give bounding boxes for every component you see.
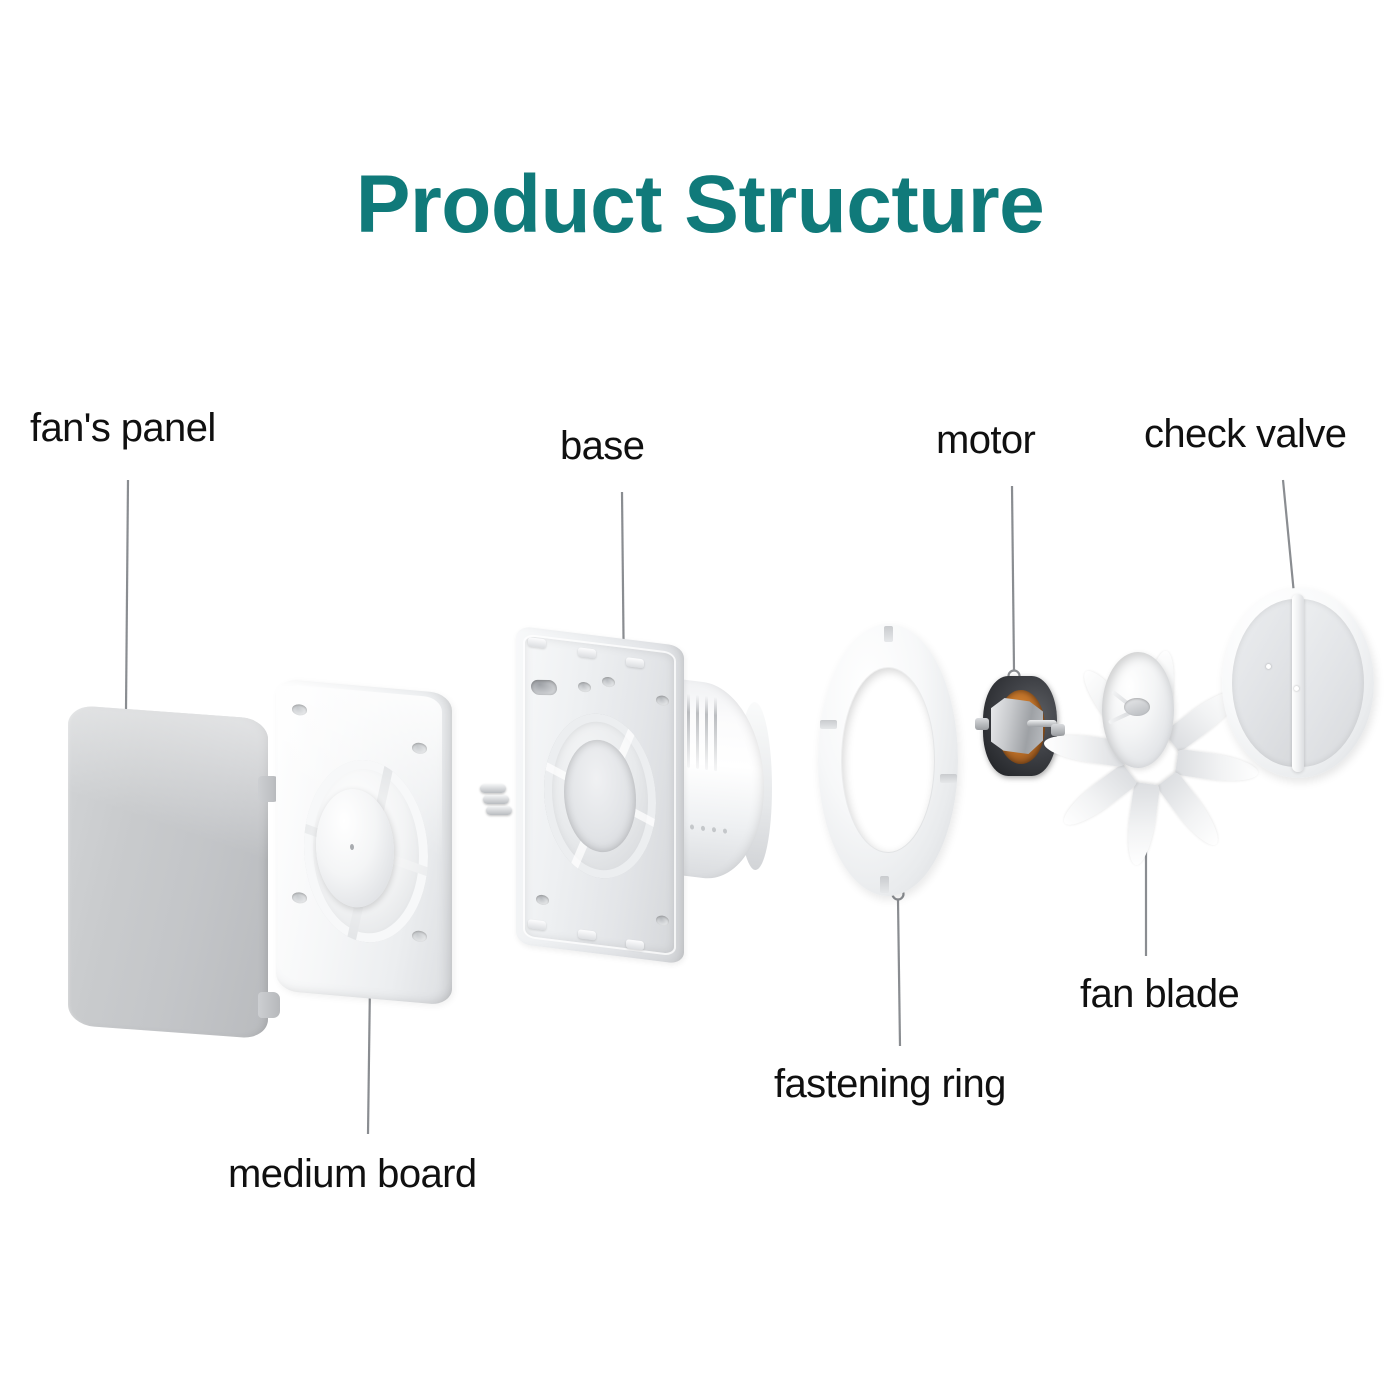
screw-hole-bottom-right: [412, 930, 427, 942]
screw-hole-top-right: [412, 742, 427, 754]
leader-fans-panel: [126, 480, 128, 710]
label-fans-panel: fan's panel: [30, 406, 216, 451]
ring-notch-bottom: [880, 876, 889, 893]
label-base: base: [560, 424, 644, 469]
vent-slot: [696, 695, 699, 769]
part-base: [492, 636, 792, 966]
screw-hole-top-left: [292, 704, 307, 716]
duct-dot: [701, 826, 705, 831]
label-fan-blade: fan blade: [1080, 972, 1239, 1017]
part-fans-panel: [60, 712, 290, 1042]
motor-mount-lug-right: [1051, 724, 1065, 736]
fastening-ring-outer: [818, 624, 958, 896]
page-title: Product Structure: [0, 158, 1400, 252]
leader-motor: [1012, 486, 1014, 670]
impeller-hub: [1124, 698, 1150, 716]
label-medium-board: medium board: [228, 1152, 476, 1197]
base-wire-connector: [480, 780, 520, 818]
vent-slot: [687, 694, 690, 768]
ring-notch-right: [940, 774, 957, 783]
connector-pin: [480, 784, 506, 793]
check-valve-center-bar: [1292, 594, 1304, 772]
part-medium-board: [276, 686, 466, 1012]
medium-board-plate: [276, 678, 452, 1005]
medium-board-hub-dot: [350, 844, 354, 850]
duct-dot: [712, 827, 716, 832]
check-valve-ring: [1222, 588, 1374, 778]
leader-check-valve: [1283, 480, 1294, 594]
base-hole: [656, 695, 669, 707]
base-clip: [626, 939, 644, 950]
fans-panel-cover: [68, 705, 268, 1040]
screw-hole-bottom-left: [292, 892, 307, 904]
duct-dot: [723, 828, 727, 833]
product-structure-diagram: Product Structure fan's panel medium boa…: [0, 0, 1400, 1400]
part-motor: [975, 672, 1067, 784]
base-clip: [528, 919, 546, 930]
base-bore: [544, 707, 656, 885]
part-fan-blade: [1076, 622, 1226, 812]
motor-housing: [983, 676, 1057, 776]
base-hole: [536, 894, 549, 906]
base-clip: [528, 637, 546, 648]
connector-pin: [486, 806, 512, 815]
label-fastening-ring: fastening ring: [774, 1062, 1006, 1107]
impeller-blade: [1057, 763, 1138, 833]
leader-fastening-ring: [898, 900, 900, 1046]
check-valve-flap-left: [1232, 599, 1295, 767]
base-hole: [578, 681, 591, 693]
base-keyhole: [530, 680, 557, 696]
vent-slot: [705, 696, 708, 770]
label-check-valve: check valve: [1144, 412, 1346, 457]
check-valve-pivot-dot: [1266, 664, 1271, 669]
base-flange-plate: [516, 626, 684, 965]
vent-slot: [714, 697, 717, 771]
motor-mount-lug-left: [975, 718, 989, 730]
duct-dot: [690, 824, 694, 829]
check-valve-flap-right: [1301, 599, 1364, 767]
base-clip: [626, 657, 644, 668]
ring-notch-left: [820, 720, 837, 729]
connector-pin: [483, 795, 509, 804]
fastening-ring-aperture: [842, 668, 934, 852]
label-motor: motor: [936, 418, 1035, 463]
ring-notch-top: [884, 626, 893, 642]
part-fastening-ring: [818, 624, 968, 904]
impeller-blade: [1156, 771, 1226, 852]
impeller-blade: [1123, 782, 1160, 867]
base-clip: [578, 929, 596, 940]
base-hole: [656, 915, 669, 927]
check-valve-pivot-dot: [1294, 686, 1299, 691]
base-hole: [602, 676, 615, 688]
base-clip: [578, 647, 596, 658]
part-check-valve: [1222, 588, 1382, 784]
